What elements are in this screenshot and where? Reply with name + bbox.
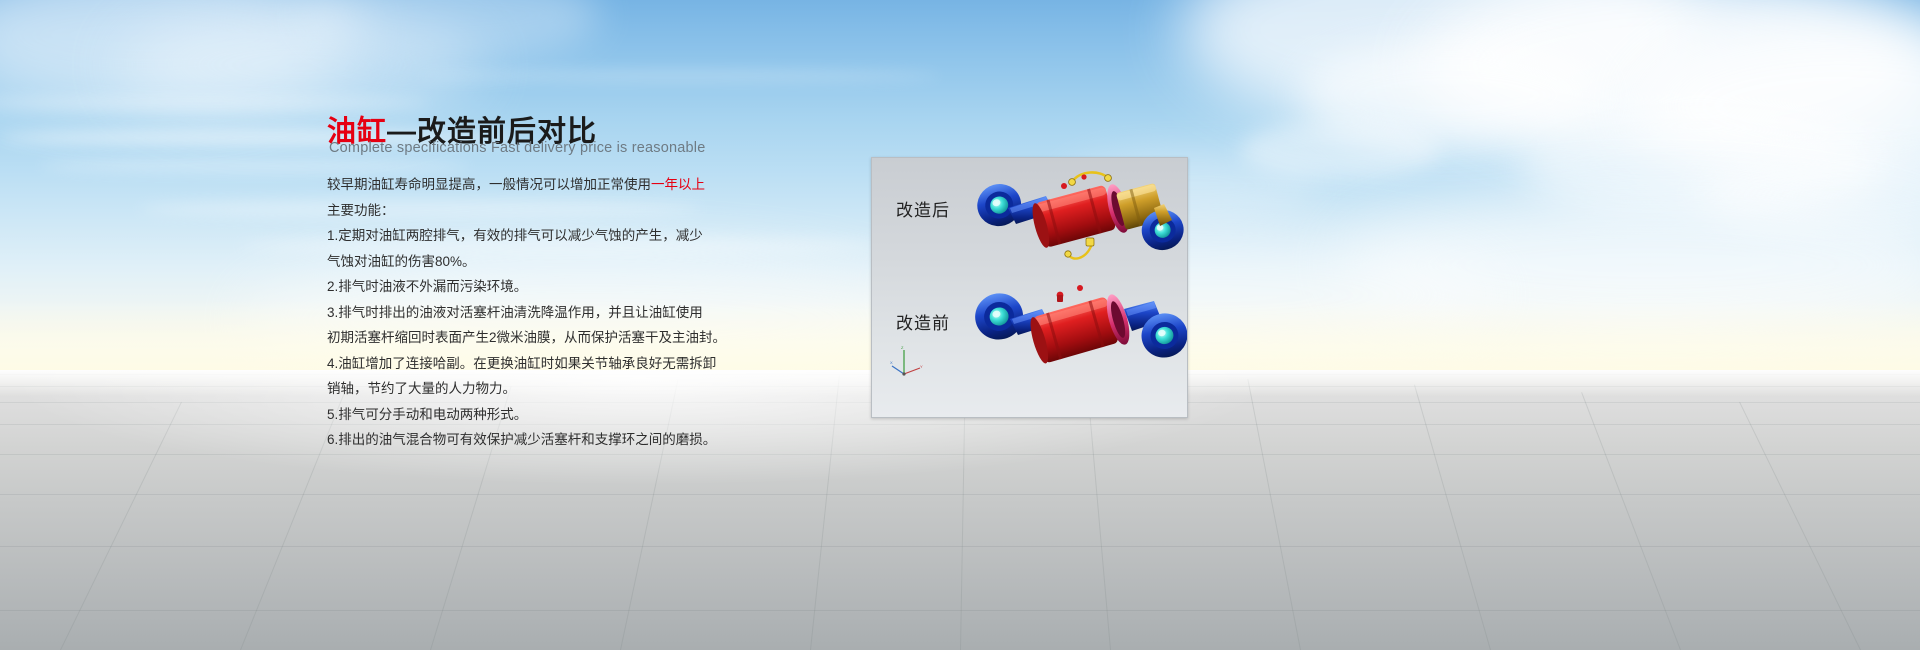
banner-stage: 油缸—改造前后对比 Complete specifications Fast d…	[0, 0, 1920, 650]
svg-text:X: X	[890, 360, 893, 365]
banner-content: 油缸—改造前后对比 Complete specifications Fast d…	[0, 0, 1920, 650]
feature-line: 销轴，节约了大量的人力物力。	[327, 376, 747, 402]
svg-text:Y: Y	[920, 364, 923, 369]
feature-line-text: 主要功能：	[327, 203, 395, 218]
cylinder-before-illustration	[968, 283, 1188, 403]
label-after-modification: 改造后	[896, 196, 950, 221]
feature-line: 5.排气可分手动和电动两种形式。	[327, 402, 747, 428]
feature-line-text: 1.定期对油缸两腔排气，有效的排气可以减少气蚀的产生，减少	[327, 228, 703, 243]
feature-line-highlight: 一年以上	[651, 177, 705, 192]
feature-line: 主要功能：	[327, 198, 747, 224]
feature-line: 1.定期对油缸两腔排气，有效的排气可以减少气蚀的产生，减少	[327, 223, 747, 249]
feature-line-text: 3.排气时排出的油液对活塞杆油清洗降温作用，并且让油缸使用	[327, 305, 703, 320]
feature-line: 6.排出的油气混合物可有效保护减少活塞杆和支撑环之间的磨损。	[327, 427, 747, 453]
feature-line-text: 销轴，节约了大量的人力物力。	[327, 381, 516, 396]
feature-line-text: 2.排气时油液不外漏而污染环境。	[327, 279, 527, 294]
cylinder-after-illustration	[968, 168, 1188, 283]
feature-line: 4.油缸增加了连接哈副。在更换油缸时如果关节轴承良好无需拆卸	[327, 351, 747, 377]
feature-line-text: 较早期油缸寿命明显提高，一般情况可以增加正常使用	[327, 177, 651, 192]
feature-line: 3.排气时排出的油液对活塞杆油清洗降温作用，并且让油缸使用	[327, 300, 747, 326]
coordinate-axis-icon: Z X Y	[890, 344, 926, 378]
feature-line-text: 4.油缸增加了连接哈副。在更换油缸时如果关节轴承良好无需拆卸	[327, 356, 716, 371]
feature-line: 较早期油缸寿命明显提高，一般情况可以增加正常使用一年以上	[327, 172, 747, 198]
svg-text:Z: Z	[901, 345, 904, 350]
page-subtitle: Complete specifications Fast delivery pr…	[329, 140, 705, 156]
label-before-modification: 改造前	[896, 309, 950, 334]
feature-description: 较早期油缸寿命明显提高，一般情况可以增加正常使用一年以上主要功能：1.定期对油缸…	[327, 172, 747, 453]
feature-line-text: 6.排出的油气混合物可有效保护减少活塞杆和支撑环之间的磨损。	[327, 432, 716, 447]
feature-line: 初期活塞杆缩回时表面产生2微米油膜，从而保护活塞干及主油封。	[327, 325, 747, 351]
comparison-image-panel[interactable]: 改造后 改造前 Z X Y	[871, 157, 1188, 418]
feature-line-text: 初期活塞杆缩回时表面产生2微米油膜，从而保护活塞干及主油封。	[327, 330, 726, 345]
feature-line: 2.排气时油液不外漏而污染环境。	[327, 274, 747, 300]
feature-line-text: 5.排气可分手动和电动两种形式。	[327, 407, 527, 422]
feature-line: 气蚀对油缸的伤害80%。	[327, 249, 747, 275]
feature-line-text: 气蚀对油缸的伤害80%。	[327, 254, 476, 269]
